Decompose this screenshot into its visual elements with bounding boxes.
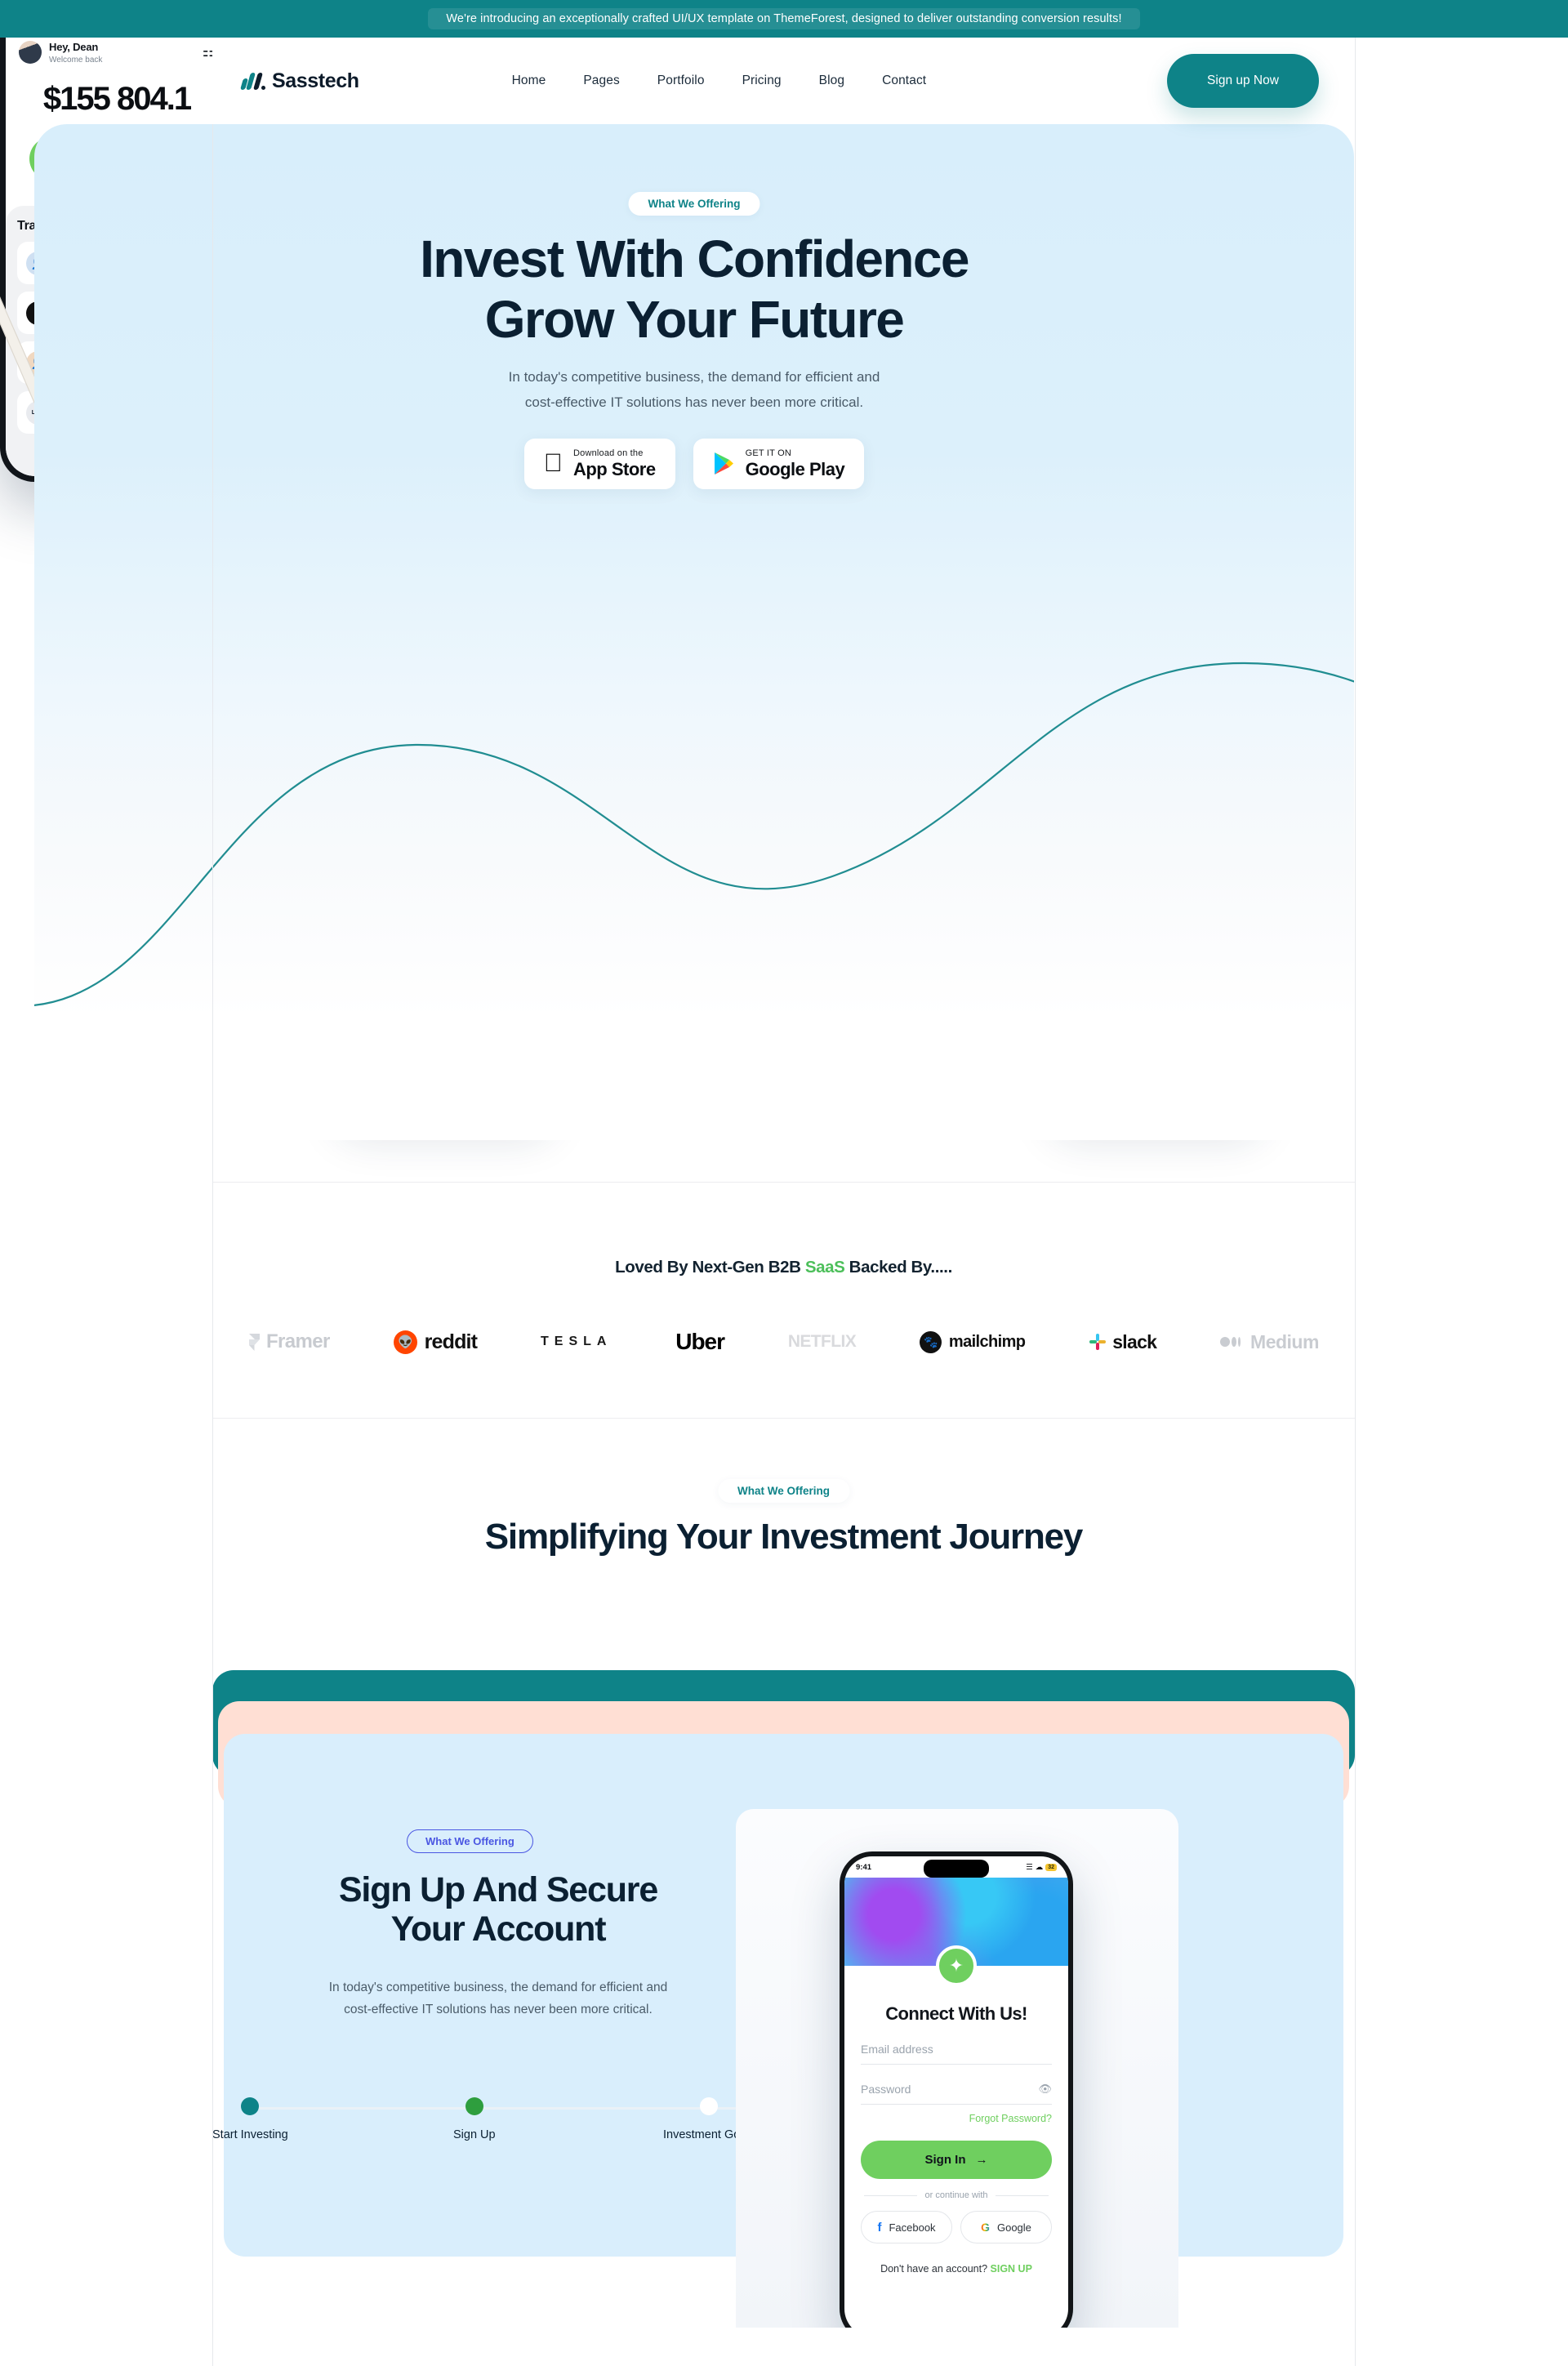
signup-heading: Sign Up And Secure Your Account	[212, 1870, 784, 1949]
hero-subtitle: In today's competitive business, the dem…	[34, 365, 1354, 416]
hero-subtitle-line-2: cost-effective IT solutions has never be…	[34, 390, 1354, 416]
app-store-button[interactable]:  Download on the App Store	[524, 439, 675, 489]
signup-paragraph: In today's competitive business, the dem…	[212, 1976, 784, 2021]
google-icon: G	[981, 2221, 990, 2234]
battery-badge: 32	[1045, 1864, 1057, 1871]
avatar	[19, 41, 42, 64]
google-play-button[interactable]: GET IT ON Google Play	[693, 439, 865, 489]
logo-framer: Framer	[248, 1330, 330, 1353]
social-buttons: f Facebook G Google	[861, 2211, 1052, 2243]
status-time: 9:41	[856, 1863, 871, 1872]
logo-list: Framer 👽reddit TESLA Uber NETFLIX 🐾mailc…	[212, 1329, 1355, 1355]
balance-amount: $155 804.1	[6, 81, 228, 118]
logo-reddit: 👽reddit	[394, 1330, 478, 1354]
forgot-password-link[interactable]: Forgot Password?	[861, 2113, 1052, 2124]
greeting: Hey, Dean	[49, 41, 98, 53]
signin-phone-backdrop: 9:41 ☰ ☁ 32 ✦ Connect With Us! Email add…	[736, 1809, 1178, 2328]
logo-netflix: NETFLIX	[788, 1332, 856, 1352]
step-dot	[241, 2097, 259, 2115]
app-store-small-label: Download on the	[573, 449, 656, 459]
step-start-investing[interactable]: Start Investing	[212, 2097, 288, 2141]
nav-item-portfolio[interactable]: Portfoilo	[657, 74, 705, 88]
hero-badge: What We Offering	[629, 192, 760, 216]
hero-subtitle-line-1: In today's competitive business, the dem…	[34, 365, 1354, 390]
facebook-button[interactable]: f Facebook	[861, 2211, 952, 2243]
announcement-text: We're introducing an exceptionally craft…	[428, 8, 1139, 29]
nav-item-pages[interactable]: Pages	[583, 74, 619, 88]
nav-item-pricing[interactable]: Pricing	[742, 74, 782, 88]
signup-heading-line-2: Your Account	[212, 1909, 784, 1949]
logo-medium: Medium	[1220, 1331, 1319, 1353]
wifi-icon: ☁	[1036, 1863, 1044, 1872]
logo-slack: slack	[1089, 1331, 1156, 1353]
reddit-icon: 👽	[394, 1330, 417, 1354]
navbar: Sasstech Home Pages Portfoilo Pricing Bl…	[212, 38, 1355, 124]
hero-heading-line-1: Invest With Confidence	[34, 229, 1354, 289]
step-sign-up[interactable]: Sign Up	[453, 2097, 496, 2141]
nav-links: Home Pages Portfoilo Pricing Blog Contac…	[512, 74, 927, 88]
sasstech-logo-icon	[242, 73, 265, 90]
layout-guide-right	[1355, 0, 1356, 2366]
signup-footer: Don't have an account? SIGN UP	[844, 2263, 1068, 2275]
steps-progress: Sign Up Investment Goals Start Investing	[212, 2070, 784, 2144]
signin-title: Connect With Us!	[844, 2003, 1068, 2025]
status-bar: 9:41 ☰ ☁ 32	[844, 1856, 1068, 1878]
brand-name: Sasstech	[272, 69, 359, 93]
framer-icon	[248, 1333, 261, 1351]
step-dot	[700, 2097, 718, 2115]
app-store-big-label: App Store	[573, 460, 656, 479]
sparkle-icon: ✦	[936, 1945, 977, 1986]
signup-now-button[interactable]: Sign up Now	[1167, 54, 1319, 108]
apple-icon: 	[544, 450, 563, 475]
google-play-icon	[713, 452, 735, 476]
signup-paragraph-line-1: In today's competitive business, the dem…	[212, 1976, 784, 1998]
announcement-bar: We're introducing an exceptionally craft…	[0, 0, 1568, 38]
mailchimp-icon: 🐾	[920, 1331, 942, 1353]
signup-badge: What We Offering	[407, 1829, 533, 1853]
nav-item-home[interactable]: Home	[512, 74, 546, 88]
facebook-icon: f	[877, 2221, 881, 2235]
signin-header-gradient: ✦	[844, 1878, 1068, 1966]
google-play-big-label: Google Play	[746, 460, 845, 479]
notch	[924, 1860, 989, 1878]
google-play-small-label: GET IT ON	[746, 449, 845, 459]
email-field[interactable]: Email address	[861, 2043, 1052, 2065]
slack-icon	[1089, 1333, 1107, 1351]
password-field[interactable]: Password 👁	[861, 2083, 1052, 2105]
signup-paragraph-line-2: cost-effective IT solutions has never be…	[212, 1998, 784, 2021]
app-store-buttons:  Download on the App Store GET IT ON Go…	[34, 439, 1354, 489]
simplifying-badge: What We Offering	[718, 1479, 849, 1503]
eye-icon[interactable]: 👁	[1038, 2083, 1052, 2096]
layout-guide-left	[212, 0, 213, 2366]
simplifying-section: What We Offering Simplifying Your Invest…	[212, 1419, 1355, 1677]
logo-mailchimp: 🐾mailchimp	[920, 1331, 1026, 1353]
phone-mockup-signin: 9:41 ☰ ☁ 32 ✦ Connect With Us! Email add…	[840, 1851, 1073, 2328]
arrow-right-icon: →	[976, 2153, 988, 2167]
nav-item-contact[interactable]: Contact	[882, 74, 926, 88]
logos-band: Loved By Next-Gen B2B SaaS Backed By....…	[212, 1182, 1355, 1419]
nav-item-blog[interactable]: Blog	[819, 74, 844, 88]
logo-tesla: TESLA	[541, 1334, 612, 1349]
hero-heading-line-2: Grow Your Future	[34, 289, 1354, 350]
hero-section: What We Offering Invest With Confidence …	[34, 124, 1354, 1140]
brand-logo[interactable]: Sasstech	[242, 69, 359, 93]
simplifying-heading: Simplifying Your Investment Journey	[212, 1517, 1355, 1557]
signup-heading-line-1: Sign Up And Secure	[212, 1870, 784, 1909]
sign-up-link[interactable]: SIGN UP	[991, 2263, 1032, 2275]
logos-band-title: Loved By Next-Gen B2B SaaS Backed By....…	[212, 1258, 1355, 1277]
divider-top	[212, 1182, 1355, 1183]
google-button[interactable]: G Google	[960, 2211, 1052, 2243]
signal-icon: ☰	[1026, 1863, 1033, 1872]
sign-in-button[interactable]: Sign In →	[861, 2141, 1052, 2179]
welcome-text: Welcome back	[49, 56, 102, 65]
hero-heading: Invest With Confidence Grow Your Future	[34, 229, 1354, 350]
medium-icon	[1220, 1337, 1241, 1347]
step-dot	[465, 2097, 483, 2115]
or-divider: or continue with	[864, 2190, 1049, 2200]
logo-uber: Uber	[675, 1329, 724, 1355]
signup-section: What We Offering Sign Up And Secure Your…	[212, 1670, 1355, 2328]
